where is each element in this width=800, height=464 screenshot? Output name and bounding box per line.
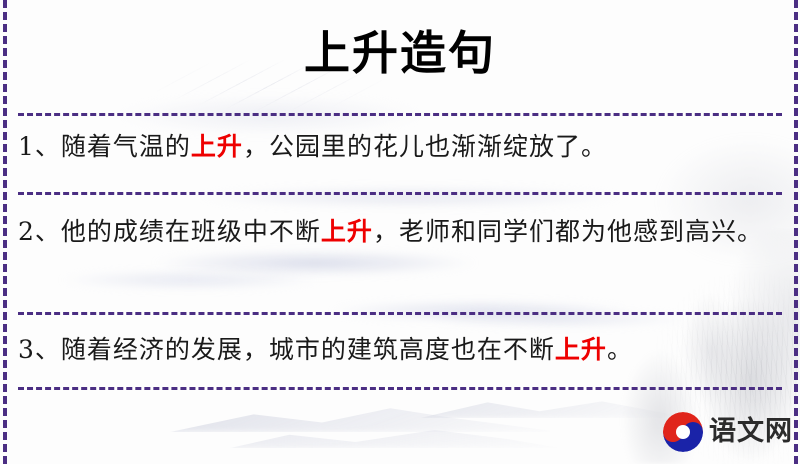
yinyang-logo-icon (663, 412, 703, 452)
sentence-text-before-2: 他的成绩在班级中不断 (61, 217, 321, 246)
page-title: 上升造句 (0, 24, 800, 82)
sentence-text-after-3: 。 (607, 335, 633, 364)
divider-above-sentence-2 (18, 192, 782, 195)
keyword-highlight-3: 上升 (555, 335, 607, 364)
sentence-index-3: 3、 (18, 335, 61, 364)
sentence-item-2: 2、他的成绩在班级中不断上升，老师和同学们都为他感到高兴。 (18, 212, 778, 252)
sentence-item-1: 1、随着气温的上升，公园里的花儿也渐渐绽放了。 (18, 127, 778, 167)
divider-below-sentence-3 (18, 387, 782, 390)
divider-above-sentence-3 (18, 312, 782, 315)
sentence-text-after-1: ，公园里的花儿也渐渐绽放了。 (243, 132, 607, 161)
site-watermark-label: 语文网 (709, 417, 793, 447)
sentence-item-3: 3、随着经济的发展，城市的建筑高度也在不断上升。 (18, 330, 778, 370)
keyword-highlight-2: 上升 (321, 217, 373, 246)
divider-above-sentence-1 (18, 113, 782, 116)
sentence-text-before-1: 随着气温的 (61, 132, 191, 161)
keyword-highlight-1: 上升 (191, 132, 243, 161)
site-watermark: 语文网 (663, 410, 793, 454)
slide-page: 上升造句 1、随着气温的上升，公园里的花儿也渐渐绽放了。 2、他的成绩在班级中不… (0, 0, 800, 464)
sentence-text-before-3: 随着经济的发展，城市的建筑高度也在不断 (61, 335, 555, 364)
sentence-text-after-2: ，老师和同学们都为他感到高兴。 (373, 217, 763, 246)
sentence-index-2: 2、 (18, 217, 61, 246)
sentence-index-1: 1、 (18, 132, 61, 161)
